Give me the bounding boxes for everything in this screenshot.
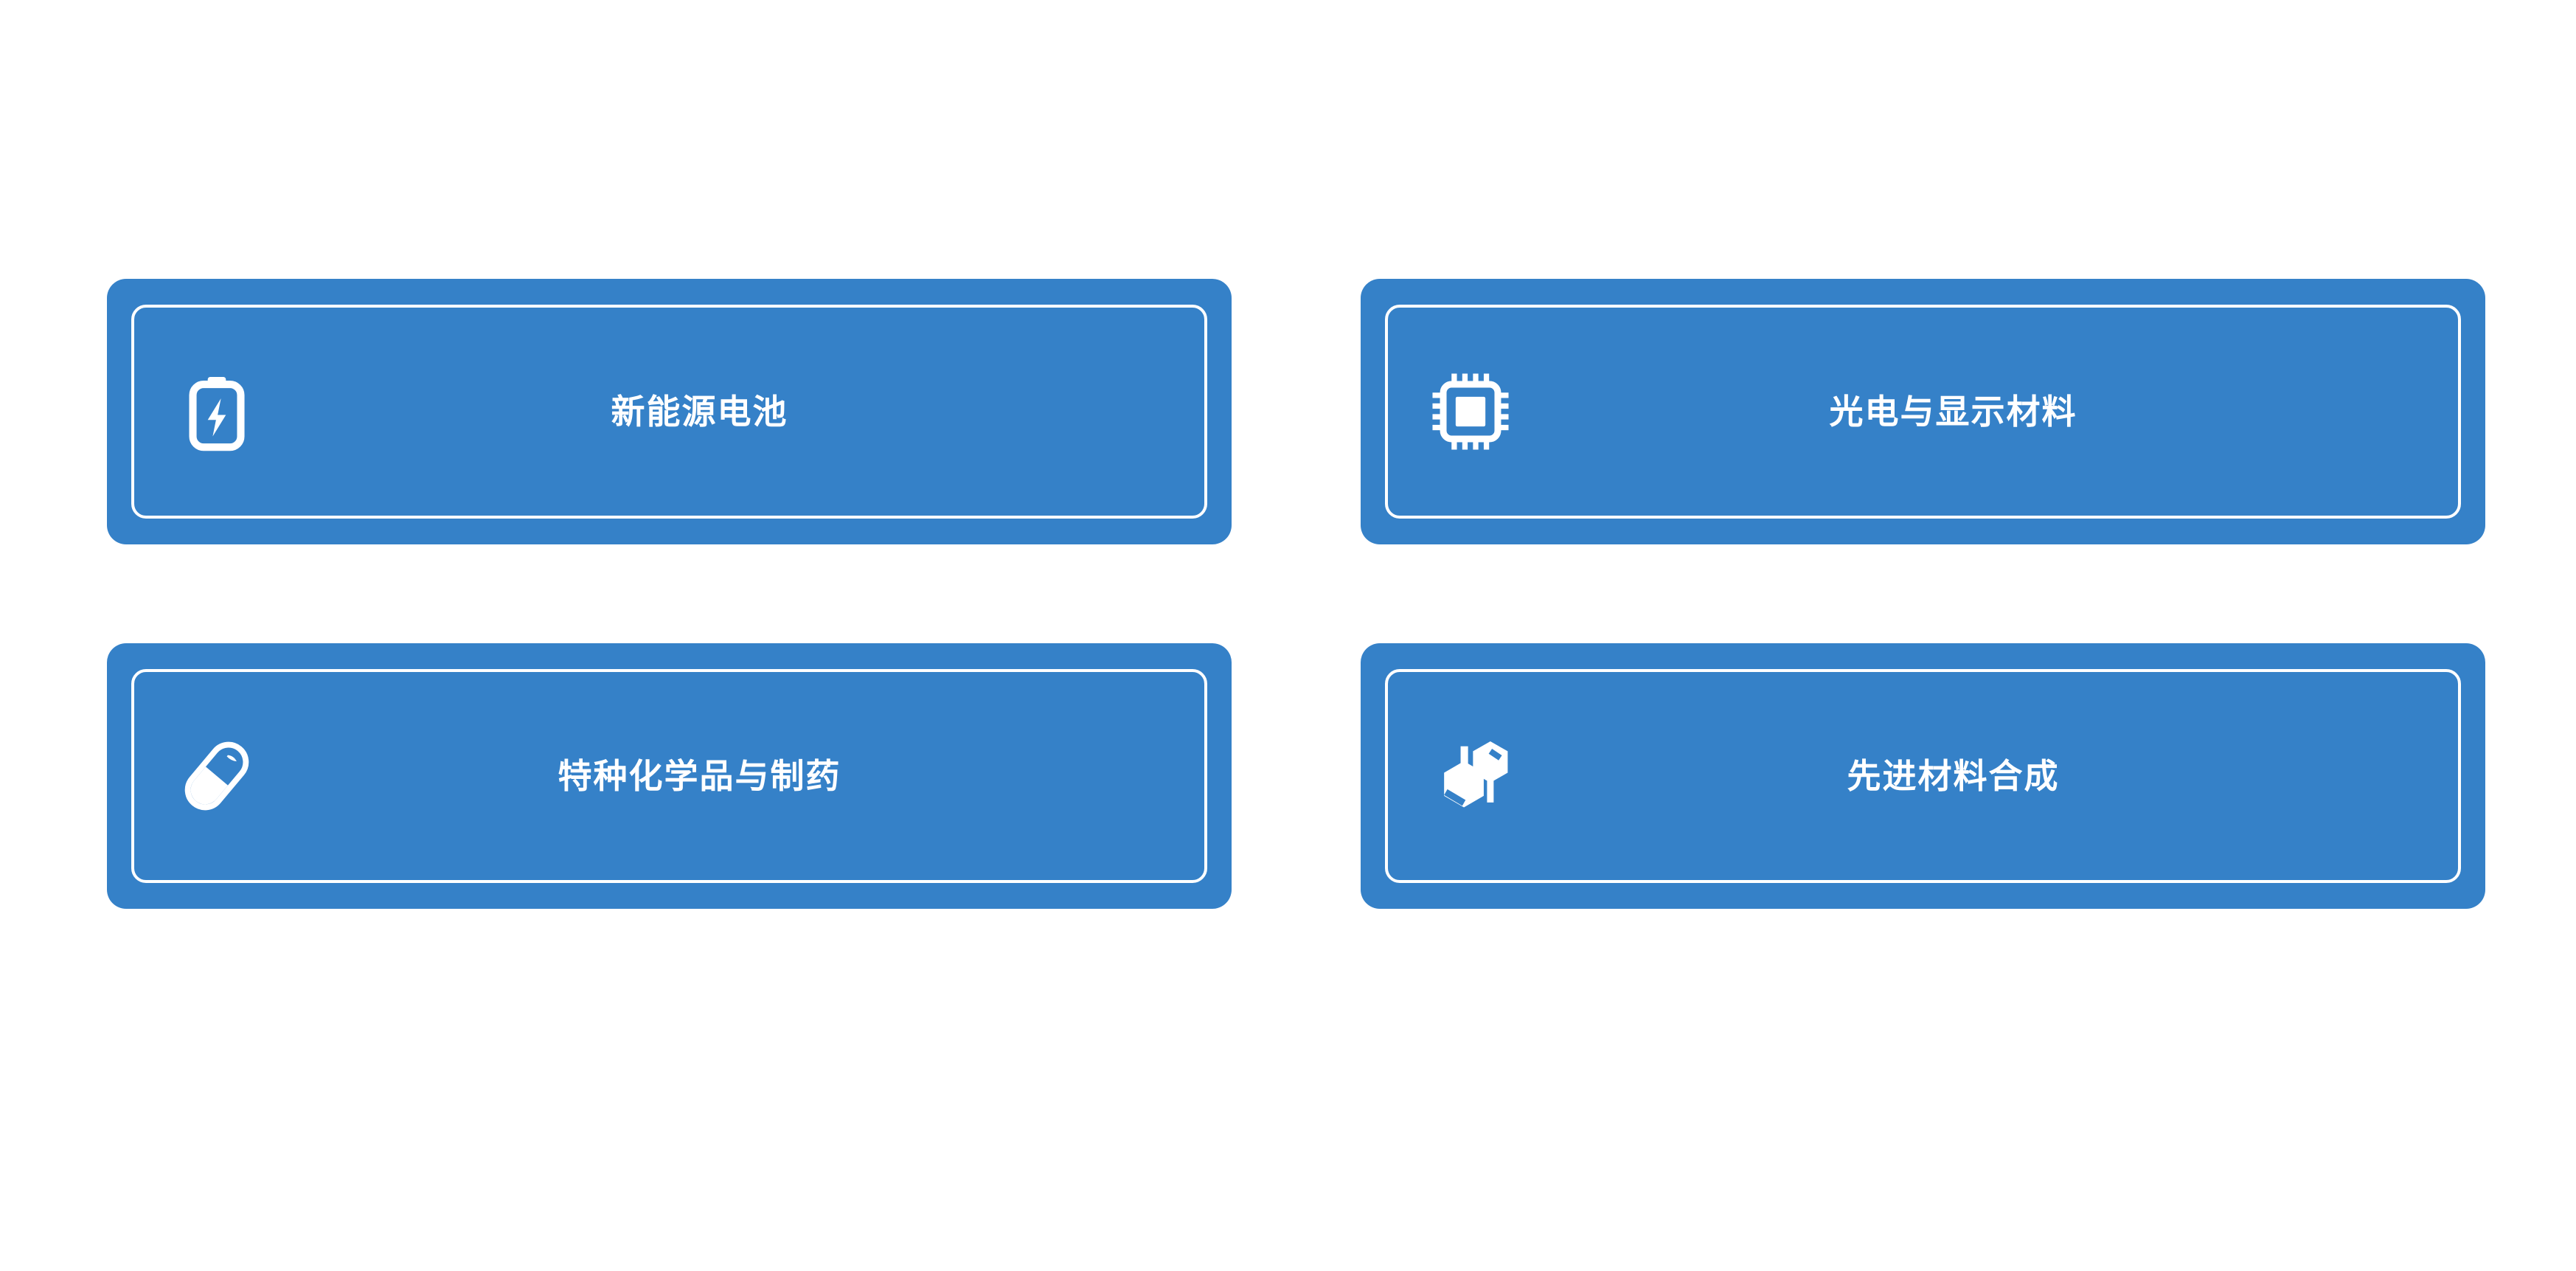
microchip-icon — [1429, 370, 1512, 453]
card-label: 光电与显示材料 — [1512, 392, 2461, 432]
card-label: 特种化学品与制药 — [258, 757, 1207, 796]
card-label: 先进材料合成 — [1512, 757, 2461, 796]
card-content: 先进材料合成 — [1385, 669, 2461, 883]
category-card-new-energy-battery[interactable]: 新能源电池 — [107, 279, 1232, 544]
capsule-pill-icon — [176, 735, 258, 817]
category-card-specialty-chemicals-pharma[interactable]: 特种化学品与制药 — [107, 643, 1232, 909]
category-card-grid: 新能源电池 — [107, 279, 2485, 909]
category-card-advanced-material-synthesis[interactable]: 先进材料合成 — [1361, 643, 2485, 909]
molecule-hexagon-icon — [1429, 735, 1512, 817]
card-content: 特种化学品与制药 — [131, 669, 1207, 883]
battery-bolt-icon — [176, 370, 258, 453]
card-content: 新能源电池 — [131, 305, 1207, 519]
category-card-optoelectronic-display-materials[interactable]: 光电与显示材料 — [1361, 279, 2485, 544]
card-label: 新能源电池 — [258, 392, 1207, 432]
card-content: 光电与显示材料 — [1385, 305, 2461, 519]
